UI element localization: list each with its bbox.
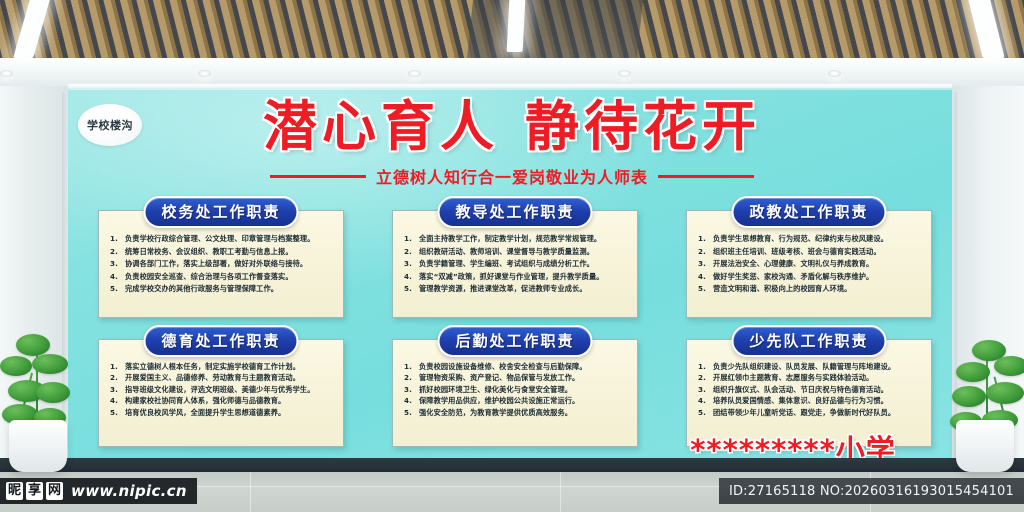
panel-title: 政教处工作职责 — [749, 203, 868, 221]
downlight-3 — [618, 70, 631, 77]
duty-panel-moral-education: 德育处工作职责 落实立德树人根本任务，制定实施学校德育工作计划。 开展爱国主义、… — [98, 325, 344, 449]
duty-item: 开展爱国主义、品德修养、劳动教育与主题教育活动。 — [108, 372, 334, 383]
downlight-1 — [198, 70, 211, 77]
plant-leaf — [36, 382, 70, 403]
duty-item: 指导班级文化建设，评选文明班级、美德少年与优秀学生。 — [108, 384, 334, 395]
duty-list: 负责少先队组织建设、队员发展、队籍管理与阵地建设。 开展红领巾主题教育、志愿服务… — [696, 361, 922, 418]
panel-title: 少先队工作职责 — [749, 332, 868, 350]
headline-right: 静待花开 — [525, 95, 761, 158]
duty-panel-moral-political: 政教处工作职责 负责学生思想教育、行为规范、纪律约束与校风建设。 组织班主任培训… — [686, 196, 932, 320]
downlight-2 — [408, 70, 421, 77]
plant-leaf — [956, 362, 990, 382]
plant-leaf — [986, 382, 1024, 404]
watermark-url: www.nipic.cn — [71, 482, 187, 500]
panel-title-badge: 后勤处工作职责 — [437, 325, 592, 357]
duty-item: 负责少先队组织建设、队员发展、队籍管理与阵地建设。 — [696, 361, 922, 372]
duty-item: 落实立德树人根本任务，制定实施学校德育工作计划。 — [108, 361, 334, 372]
duty-item: 统筹日常校务、会议组织、教职工考勤与信息上报。 — [108, 246, 334, 259]
duty-list: 落实立德树人根本任务，制定实施学校德育工作计划。 开展爱国主义、品德修养、劳动教… — [108, 361, 334, 418]
panel-title-badge: 校务处工作职责 — [143, 196, 298, 228]
headline: 潜心育人静待花开 — [0, 96, 1024, 158]
duty-item: 落实“双减”政策，抓好课堂与作业管理，提升教学质量。 — [402, 271, 628, 284]
floor-tile-line — [250, 472, 251, 512]
headline-left: 潜心育人 — [263, 95, 499, 158]
duty-item: 培养队员爱国情感、集体意识、良好品德与行为习惯。 — [696, 395, 922, 406]
plant-pot — [9, 420, 67, 472]
ceiling-light-center — [507, 0, 526, 52]
duty-item: 团结带领少年儿童听党话、跟党走，争做新时代好队员。 — [696, 407, 922, 418]
panel-title: 后勤处工作职责 — [455, 332, 574, 350]
potted-plant-left — [2, 326, 74, 472]
panel-title-badge: 政教处工作职责 — [731, 196, 886, 228]
duty-item: 抓好校园环境卫生、绿化美化与食堂安全管理。 — [402, 384, 628, 395]
duty-panel-logistics: 后勤处工作职责 负责校园设施设备维修、校舍安全检查与后勤保障。 管理物资采购、资… — [392, 325, 638, 449]
headline-subtitle: 立德树人知行合一爱岗敬业为人师表 — [376, 164, 648, 188]
panel-title: 教导处工作职责 — [455, 203, 574, 221]
ceiling-recess — [467, 0, 643, 58]
duty-item: 管理物资采购、资产登记、物品保管与发放工作。 — [402, 372, 628, 383]
duty-item: 负责学校行政综合管理、公文处理、印章管理与档案整理。 — [108, 233, 334, 246]
ceiling — [0, 0, 1024, 62]
duty-item: 组织班主任培训、班级考核、班会与德育实践活动。 — [696, 246, 922, 259]
downlight-4 — [828, 70, 841, 77]
poster-scene: 学校楼沟 潜心育人静待花开 立德树人知行合一爱岗敬业为人师表 校务处工作职责 负… — [0, 0, 1024, 512]
duty-item: 组织升旗仪式、队会活动、节日庆祝与特色德育活动。 — [696, 384, 922, 395]
duty-item: 负责学籍管理、学生编班、考试组织与成绩分析工作。 — [402, 258, 628, 271]
duty-item: 负责学生思想教育、行为规范、纪律约束与校风建设。 — [696, 233, 922, 246]
plant-pot — [956, 420, 1014, 472]
duty-item: 开展红领巾主题教育、志愿服务与实践体验活动。 — [696, 372, 922, 383]
plant-leaf — [32, 354, 68, 374]
plant-leaf — [16, 334, 50, 356]
subtitle-rule-left — [270, 175, 366, 178]
panel-title-badge: 教导处工作职责 — [437, 196, 592, 228]
duty-item: 做好学生奖惩、家校沟通、矛盾化解与秩序维护。 — [696, 271, 922, 284]
floor-tile-line — [560, 472, 561, 512]
watermark-brand-char: 享 — [26, 482, 43, 500]
headline-block: 潜心育人静待花开 立德树人知行合一爱岗敬业为人师表 — [0, 96, 1024, 188]
duty-item: 负责校园安全巡查、综合治理与各项工作督查落实。 — [108, 271, 334, 284]
duty-list: 负责校园设施设备维修、校舍安全检查与后勤保障。 管理物资采购、资产登记、物品保管… — [402, 361, 628, 418]
duty-panel-academic-affairs: 教导处工作职责 全面主持教学工作，制定教学计划，规范教学常规管理。 组织教研活动… — [392, 196, 638, 320]
duty-list: 负责学生思想教育、行为规范、纪律约束与校风建设。 组织班主任培训、班级考核、班会… — [696, 233, 922, 296]
stock-id-bar: ID:27165118 NO:20260316193015454101 — [719, 478, 1024, 504]
panel-title: 德育处工作职责 — [161, 332, 280, 350]
subtitle-row: 立德树人知行合一爱岗敬业为人师表 — [0, 164, 1024, 188]
duty-item: 完成学校交办的其他行政服务与管理保障工作。 — [108, 283, 334, 296]
watermark-brand: 昵 享 网 — [6, 482, 63, 500]
duty-panel-grid: 校务处工作职责 负责学校行政综合管理、公文处理、印章管理与档案整理。 统筹日常校… — [98, 196, 924, 444]
duty-panel-young-pioneers: 少先队工作职责 负责少先队组织建设、队员发展、队籍管理与阵地建设。 开展红领巾主… — [686, 325, 932, 449]
duty-item: 保障教学用品供应，维护校园公共设施正常运行。 — [402, 395, 628, 406]
watermark-brand-char: 网 — [46, 482, 63, 500]
duty-item: 开展法治安全、心理健康、文明礼仪与养成教育。 — [696, 258, 922, 271]
panel-title: 校务处工作职责 — [161, 203, 280, 221]
duty-item: 培育优良校风学风，全面提升学生思想道德素养。 — [108, 407, 334, 418]
plant-leaf — [952, 386, 986, 407]
plant-leaf — [994, 356, 1024, 376]
duty-item: 负责校园设施设备维修、校舍安全检查与后勤保障。 — [402, 361, 628, 372]
plant-leaf — [0, 356, 32, 376]
panel-title-badge: 德育处工作职责 — [143, 325, 298, 357]
watermark-brand-char: 昵 — [6, 482, 23, 500]
potted-plant-right — [946, 336, 1024, 472]
downlight-x — [0, 70, 13, 77]
duty-item: 构建家校社协同育人体系，强化师德与品德教育。 — [108, 395, 334, 406]
duty-item: 强化安全防范，为教育教学提供优质高效服务。 — [402, 407, 628, 418]
duty-item: 管理教学资源，推进课堂改革，促进教师专业成长。 — [402, 283, 628, 296]
duty-item: 组织教研活动、教师培训、课堂督导与教学质量监测。 — [402, 246, 628, 259]
duty-item: 营造文明和谐、积极向上的校园育人环境。 — [696, 283, 922, 296]
panel-title-badge: 少先队工作职责 — [731, 325, 886, 357]
duty-item: 全面主持教学工作，制定教学计划，规范教学常规管理。 — [402, 233, 628, 246]
watermark-bar: 昵 享 网 www.nipic.cn — [0, 478, 197, 504]
subtitle-rule-right — [658, 175, 754, 178]
duty-panel-school-affairs: 校务处工作职责 负责学校行政综合管理、公文处理、印章管理与档案整理。 统筹日常校… — [98, 196, 344, 320]
duty-list: 全面主持教学工作，制定教学计划，规范教学常规管理。 组织教研活动、教师培训、课堂… — [402, 233, 628, 296]
duty-list: 负责学校行政综合管理、公文处理、印章管理与档案整理。 统筹日常校务、会议组织、教… — [108, 233, 334, 296]
duty-item: 协调各部门工作，落实上级部署，做好对外联络与接待。 — [108, 258, 334, 271]
